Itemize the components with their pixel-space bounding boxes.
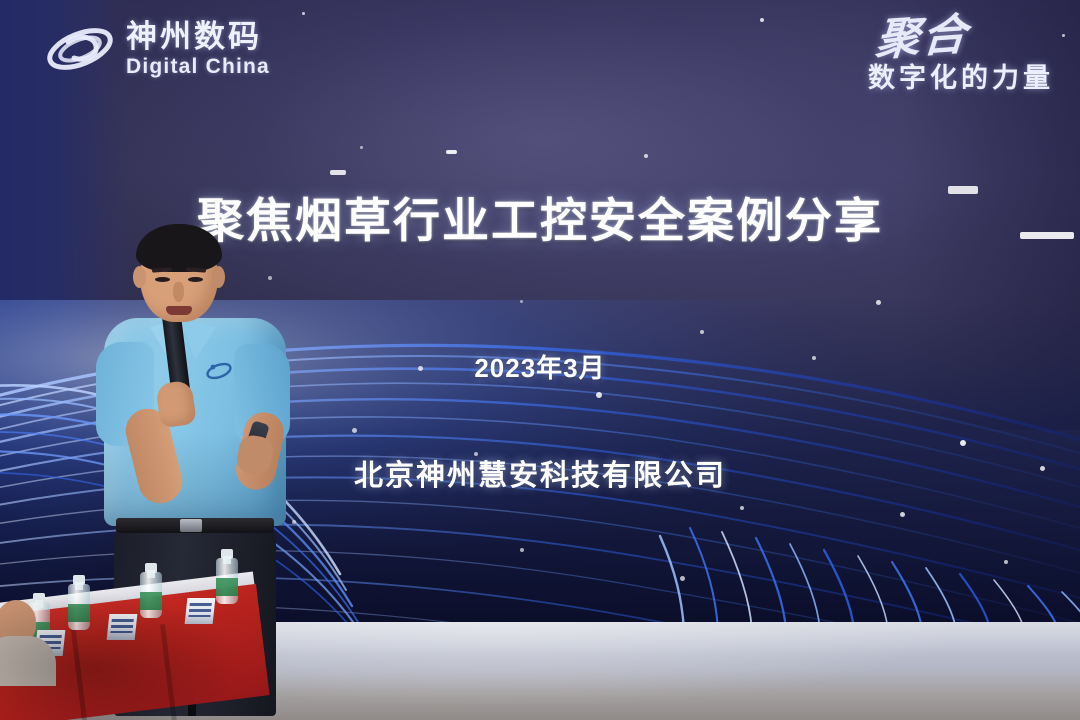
- bottle-neck: [147, 570, 155, 578]
- event-mark: 聚合 数字化的力量: [868, 16, 1054, 95]
- bottle-label: [216, 578, 238, 596]
- bottle-body: [68, 584, 90, 630]
- bottle-label: [140, 592, 162, 610]
- bottle-neck: [75, 582, 83, 590]
- water-bottle: [68, 584, 90, 630]
- speaker-ear-right: [212, 266, 225, 288]
- speaker-eye-right: [188, 277, 203, 282]
- conference-photo-scene: 聚焦烟草行业工控安全案例分享 2023年3月 北京神州慧安科技有限公司 神州数码…: [0, 0, 1080, 720]
- bottle-neck: [223, 556, 231, 564]
- speaker-mouth: [166, 306, 192, 315]
- swirl-logo-icon: [44, 18, 116, 80]
- name-card-text: [110, 619, 133, 633]
- bottle-body: [140, 572, 162, 618]
- bottle-label: [68, 604, 90, 622]
- bottle-neck: [35, 600, 43, 608]
- water-bottle: [140, 572, 162, 618]
- attendee-shoulder: [0, 636, 56, 686]
- brand-logo: 神州数码 Digital China: [44, 18, 270, 80]
- event-calligraphy: 聚合: [874, 13, 970, 63]
- speaker-ear-left: [133, 266, 146, 288]
- speaker-eye-left: [155, 277, 170, 282]
- speaker-belt-buckle: [180, 519, 202, 532]
- shirt-emblem-icon: [204, 360, 234, 382]
- name-card: [107, 614, 138, 640]
- name-card: [185, 598, 216, 624]
- brand-name-cn: 神州数码: [126, 21, 270, 52]
- bottle-body: [216, 558, 238, 604]
- speaker-nose: [173, 282, 184, 302]
- brand-name-en: Digital China: [126, 56, 270, 77]
- speaker-hair: [136, 224, 222, 272]
- name-card-text: [188, 603, 211, 617]
- brand-text: 神州数码 Digital China: [126, 21, 270, 77]
- water-bottle: [216, 558, 238, 604]
